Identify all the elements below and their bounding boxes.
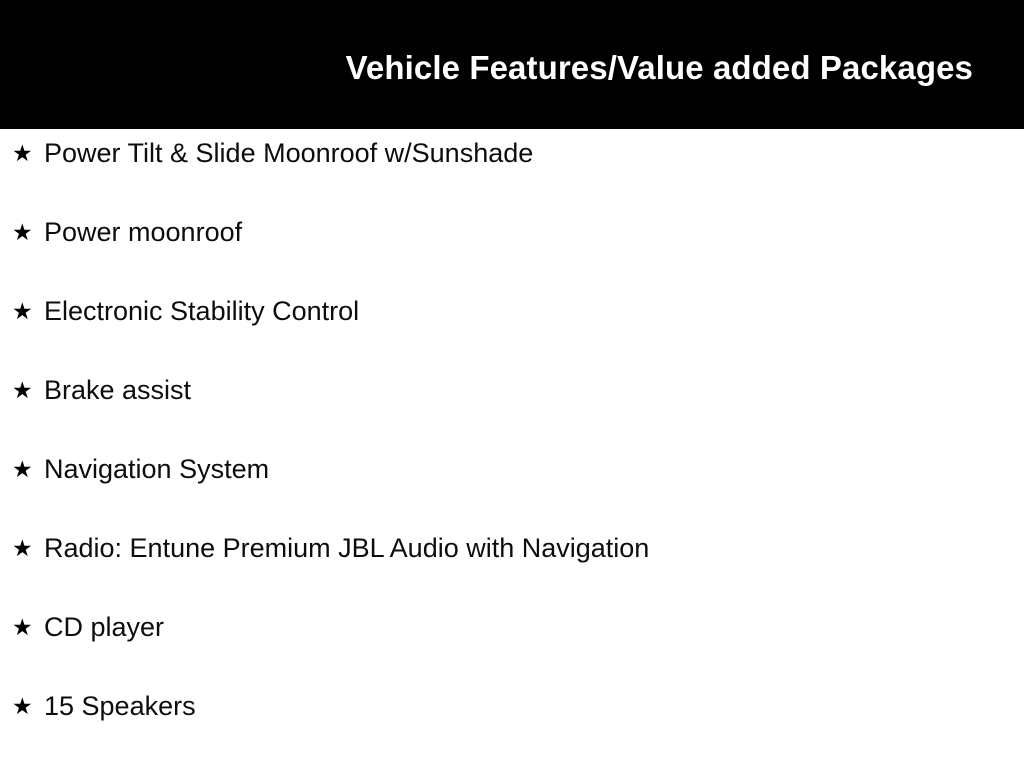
list-item-label: Brake assist	[44, 366, 191, 415]
list-item: ★ Electronic Stability Control	[0, 287, 1024, 366]
list-item: ★ Brake assist	[0, 366, 1024, 445]
list-item: ★ CD player	[0, 603, 1024, 682]
star-bullet-icon: ★	[12, 366, 44, 415]
list-item-label: Radio: Entune Premium JBL Audio with Nav…	[44, 524, 649, 573]
list-item: ★ Radio: Entune Premium JBL Audio with N…	[0, 524, 1024, 603]
star-bullet-icon: ★	[12, 445, 44, 494]
list-item-label: CD player	[44, 603, 164, 652]
star-bullet-icon: ★	[12, 603, 44, 652]
star-bullet-icon: ★	[12, 287, 44, 336]
vehicle-features-list: ★ Power Tilt & Slide Moonroof w/Sunshade…	[0, 129, 1024, 761]
star-bullet-icon: ★	[12, 682, 44, 731]
star-bullet-icon: ★	[12, 208, 44, 257]
list-item: ★ Power moonroof	[0, 208, 1024, 287]
slide-header-band: Vehicle Features/Value added Packages	[0, 0, 1024, 129]
list-item-label: Navigation System	[44, 445, 269, 494]
star-bullet-icon: ★	[12, 524, 44, 573]
list-item-label: 15 Speakers	[44, 682, 196, 731]
list-item: ★ Navigation System	[0, 445, 1024, 524]
list-item: ★ 15 Speakers	[0, 682, 1024, 761]
slide-canvas: Vehicle Features/Value added Packages ★ …	[0, 0, 1024, 768]
list-item-label: Power moonroof	[44, 208, 242, 257]
list-item-label: Power Tilt & Slide Moonroof w/Sunshade	[44, 129, 533, 178]
star-bullet-icon: ★	[12, 129, 44, 178]
list-item: ★ Power Tilt & Slide Moonroof w/Sunshade	[0, 129, 1024, 208]
page-title: Vehicle Features/Value added Packages	[0, 49, 973, 87]
list-item-label: Electronic Stability Control	[44, 287, 359, 336]
